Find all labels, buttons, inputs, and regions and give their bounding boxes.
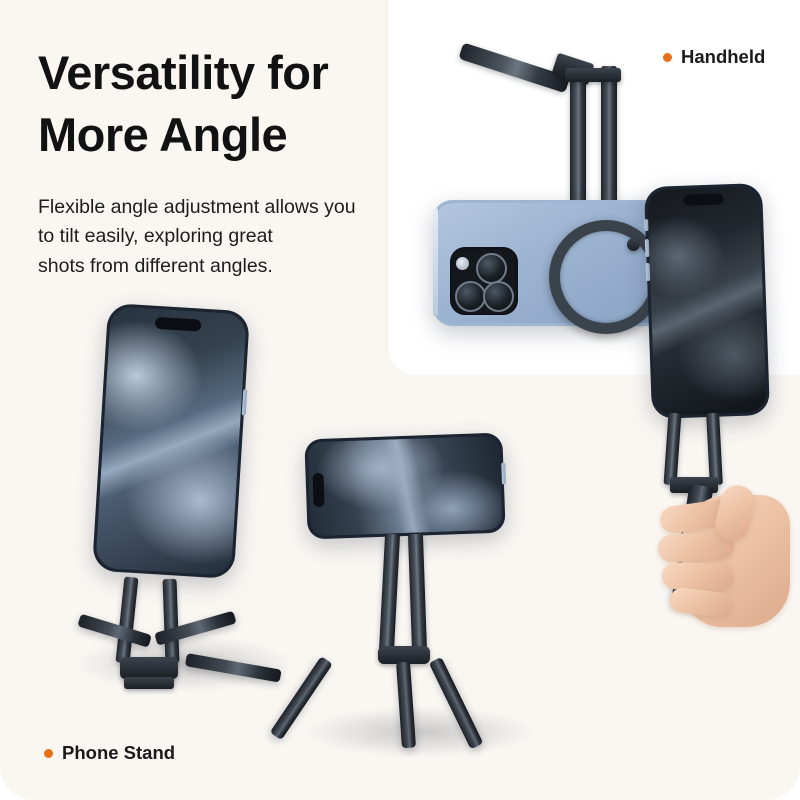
label-phone-stand: Phone Stand: [44, 742, 175, 764]
stand-strut-left: [379, 534, 400, 653]
phone-screen: [307, 436, 502, 537]
volume-button: [645, 239, 650, 257]
stand-foot: [124, 677, 174, 689]
page-title: Versatility for More Angle: [38, 42, 388, 166]
stand-strut-collar: [565, 68, 621, 82]
subcopy-line-1: Flexible angle adjustment allows you: [38, 193, 410, 222]
product-image-phone-stand-landscape: [296, 428, 546, 758]
headline-line-2: More Angle: [38, 104, 388, 166]
subcopy-line-3: shots from different angles.: [38, 252, 410, 281]
camera-flash-icon: [456, 257, 469, 270]
phone-screen: [647, 186, 767, 416]
subcopy-line-2: to tilt easily, exploring great: [38, 222, 410, 251]
drop-shadow: [72, 635, 296, 693]
phone-stand-landscape: [304, 433, 505, 540]
product-image-phone-stand-portrait: [68, 305, 298, 725]
phone-stand-portrait: [92, 303, 250, 579]
promo-card: Versatility for More Angle Flexible angl…: [0, 0, 800, 800]
stand-strut-left: [664, 413, 682, 486]
camera-module: [450, 247, 518, 315]
dynamic-island: [312, 473, 324, 507]
stand-strut-right: [163, 579, 180, 663]
phone-edge-highlight: [433, 208, 438, 316]
bullet-dot-icon: [44, 749, 53, 758]
stand-base-hinge: [120, 657, 178, 679]
label-phone-stand-text: Phone Stand: [62, 742, 175, 764]
product-image-handheld-stick: [630, 185, 800, 745]
page-subcopy: Flexible angle adjustment allows you to …: [38, 193, 410, 281]
hand-finger-ring: [662, 562, 735, 591]
action-button: [644, 219, 648, 231]
dynamic-island: [683, 193, 723, 205]
power-button: [501, 462, 506, 484]
camera-lens-1: [476, 253, 507, 284]
wallpaper: [647, 186, 767, 416]
volume-button: [646, 263, 651, 281]
drop-shadow: [302, 706, 538, 758]
headline-line-1: Versatility for: [38, 42, 388, 104]
camera-lens-3: [483, 281, 514, 312]
phone-handheld: [644, 183, 770, 419]
stand-strut-right: [408, 534, 427, 652]
wallpaper: [95, 306, 247, 576]
wallpaper: [307, 436, 502, 537]
phone-screen: [95, 306, 247, 576]
power-button: [242, 389, 248, 415]
stand-strut-right: [706, 413, 723, 486]
camera-lens-2: [455, 281, 486, 312]
